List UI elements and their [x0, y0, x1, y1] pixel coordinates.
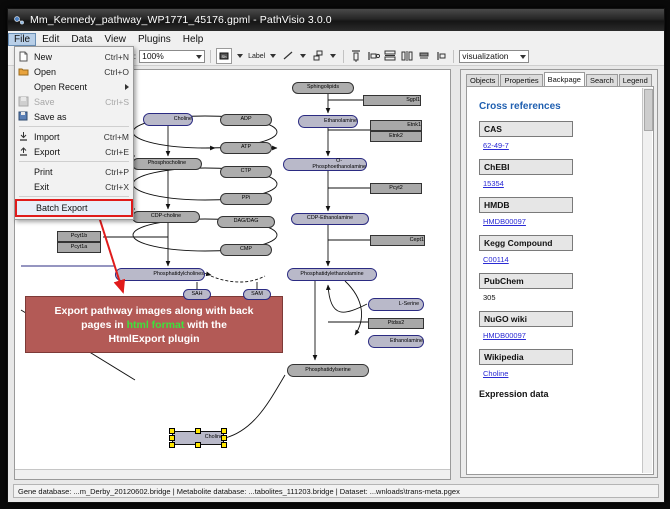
chevron-down-icon-2 — [520, 55, 526, 59]
pathway-node-sah-label: SAH — [191, 292, 202, 297]
svg-text:Sh: Sh — [222, 54, 227, 59]
selection-handle-2[interactable] — [221, 428, 227, 434]
cross-reference-link[interactable]: 62-49-7 — [479, 137, 653, 150]
pathway-node-ppi-label: PPi — [242, 196, 250, 201]
pathway-node-cdp-choline-label: CDP-choline — [151, 214, 181, 219]
callout-line-1: Export pathway images along with back — [55, 304, 254, 318]
file-menu-accel-print: Ctrl+P — [105, 167, 133, 177]
selection-handle-4[interactable] — [221, 435, 227, 441]
toolbar-divider — [210, 50, 211, 63]
import-icon — [17, 130, 30, 143]
cross-reference-link[interactable]: HMDB00097 — [479, 327, 653, 340]
cross-reference-database-label: PubChem — [479, 273, 573, 289]
stack-icon[interactable] — [417, 49, 431, 63]
interaction-tool-chevron-icon[interactable] — [330, 54, 336, 58]
pathway-node-ptdcho[interactable]: Phosphatidylcholines — [115, 268, 205, 281]
cross-reference-link[interactable]: 15354 — [479, 175, 653, 188]
status-bar-text: Gene database: ...m_Derby_20120602.bridg… — [18, 487, 460, 496]
file-menu-label-open: Open — [34, 67, 104, 77]
cross-reference-value: 305 — [479, 289, 653, 302]
line-tool-chevron-icon[interactable] — [300, 54, 306, 58]
file-menu-divider-3 — [19, 196, 129, 197]
callout-highlight: html format — [127, 319, 185, 331]
expression-data-heading: Expression data — [467, 378, 653, 399]
cross-reference-database-label: NuGO wiki — [479, 311, 573, 327]
cross-reference-database-label: HMDB — [479, 197, 573, 213]
file-menu-accel-export: Ctrl+E — [105, 147, 133, 157]
zoom-value: 100% — [142, 51, 164, 61]
visualization-combobox[interactable]: visualization — [459, 50, 529, 63]
title-bar: Mm_Kennedy_pathway_WP1771_45176.gpml - P… — [8, 9, 664, 31]
canvas-hscrollbar[interactable] — [15, 469, 450, 479]
pathway-node-adp-label: ADP — [240, 117, 251, 122]
callout-line-3: HtmlExport plugin — [55, 332, 254, 346]
pathway-node-ctp[interactable]: CTP — [220, 166, 272, 178]
pathway-node-etnk2[interactable]: Etnk2 — [370, 131, 422, 142]
callout-line-2a: pages in — [81, 319, 127, 331]
blank-icon — [17, 80, 30, 93]
file-menu-accel-exit: Ctrl+X — [105, 182, 133, 192]
submenu-arrow-icon — [125, 84, 129, 90]
file-menu-label-new: New — [34, 52, 105, 62]
cross-reference-item: HMDBHMDB00097 — [467, 188, 653, 226]
file-menu-label-open-recent: Open Recent — [34, 82, 133, 92]
pathway-node-cdp-eth-label: CDP-Ethanolamine — [307, 216, 353, 221]
file-menu-divider-1 — [19, 126, 129, 127]
selection-handle-5[interactable] — [169, 442, 175, 448]
pathway-node-ptdcho-label: Phosphatidylcholines — [153, 272, 204, 277]
align-top-icon[interactable] — [349, 49, 363, 63]
cross-reference-database-label: Wikipedia — [479, 349, 573, 365]
tab-legend[interactable]: Legend — [619, 74, 652, 86]
cross-reference-database-label: ChEBI — [479, 159, 573, 175]
distribute-vertical-icon[interactable] — [383, 49, 397, 63]
pathway-node-ethanolamine1-label: Ethanolamine — [324, 119, 357, 124]
pathway-node-atp[interactable]: ATP — [220, 142, 272, 154]
toolbar-divider-3 — [453, 50, 454, 63]
cross-reference-link[interactable]: C00114 — [479, 251, 653, 264]
shape-tool-chevron-icon[interactable] — [237, 54, 243, 58]
group-icon[interactable] — [434, 49, 448, 63]
pathway-node-cmp-label: CMP — [240, 247, 252, 252]
pathway-node-phosphocholine-label: Phosphocholine — [148, 161, 186, 166]
blank-icon-4 — [19, 202, 32, 215]
pathway-node-adp[interactable]: ADP — [220, 114, 272, 126]
backpage-content: Cross references CAS62-49-7ChEBI15354HMD… — [466, 86, 654, 475]
menu-help[interactable]: Help — [177, 33, 210, 46]
pathway-node-pcyt1b-label: Pcyt1b — [71, 234, 87, 239]
distribute-horizontal-icon[interactable] — [400, 49, 414, 63]
pathway-node-pcyt1b[interactable]: Pcyt1b — [57, 231, 101, 242]
pathway-node-etnk2-label: Etnk2 — [389, 134, 403, 139]
cross-references-heading: Cross references — [467, 87, 653, 112]
pathway-node-ptdeth[interactable]: Phosphatidylethanolamine — [287, 268, 377, 281]
pathway-node-sgpl1[interactable]: Sgpl1 — [363, 95, 421, 106]
label-tool-button[interactable]: Label — [248, 53, 265, 60]
cross-reference-link[interactable]: HMDB00097 — [479, 213, 653, 226]
screenshot-frame: Mm_Kennedy_pathway_WP1771_45176.gpml - P… — [0, 0, 670, 509]
file-menu-label-save: Save — [34, 97, 105, 107]
pathway-node-ptdser[interactable]: Phosphatidylserine — [287, 364, 369, 377]
pathway-node-l-serine[interactable]: L-Serine — [368, 298, 424, 311]
file-menu-item-save-as[interactable]: Save as — [15, 109, 133, 124]
pathway-node-pcyt2-label: Pcyt2 — [389, 186, 402, 191]
menu-view[interactable]: View — [98, 33, 132, 46]
zoom-combobox[interactable]: 100% — [139, 50, 205, 63]
file-menu-item-new[interactable]: New Ctrl+N — [15, 49, 133, 64]
pathway-node-cdp-eth[interactable]: CDP-Ethanolamine — [291, 213, 369, 225]
pathway-node-dagdag[interactable]: DAG/DAG — [217, 216, 275, 228]
pathway-node-cept1[interactable]: Cept1 — [370, 235, 425, 246]
pathway-node-etnk1[interactable]: Etnk1 — [370, 120, 422, 131]
cross-reference-item: NuGO wikiHMDB00097 — [467, 302, 653, 340]
callout-line-2b: with the — [184, 319, 227, 331]
open-folder-icon — [17, 65, 30, 78]
pathway-node-o-phosphoeth[interactable]: O-Phosphoethanolamine — [283, 158, 367, 171]
file-menu-item-print[interactable]: Print Ctrl+P — [15, 164, 133, 179]
pathvisio-window: Mm_Kennedy_pathway_WP1771_45176.gpml - P… — [7, 8, 665, 503]
new-file-icon — [17, 50, 30, 63]
save-as-icon — [17, 110, 30, 123]
cross-reference-item: CAS62-49-7 — [467, 112, 653, 150]
file-menu-accel-new: Ctrl+N — [105, 52, 133, 62]
file-menu-item-open[interactable]: Open Ctrl+O — [15, 64, 133, 79]
file-menu-item-exit[interactable]: Exit Ctrl+X — [15, 179, 133, 194]
pathway-node-sphingolipids-label: Sphingolipids — [307, 85, 339, 90]
cross-reference-database-label: Kegg Compound — [479, 235, 573, 251]
file-menu-label-print: Print — [34, 167, 105, 177]
file-menu-item-save: Save Ctrl+S — [15, 94, 133, 109]
file-menu-item-batch-export[interactable]: Batch Export — [15, 199, 133, 217]
pathway-node-cmp[interactable]: CMP — [220, 244, 272, 256]
selection-handle-7[interactable] — [221, 442, 227, 448]
pathway-node-dagdag-label: DAG/DAG — [234, 219, 259, 224]
pathway-node-sam-label: SAM — [251, 292, 263, 297]
pathway-node-ptdeth-label: Phosphatidylethanolamine — [300, 272, 363, 277]
pathway-node-sam[interactable]: SAM — [243, 289, 271, 300]
shape-tool-button[interactable]: Sh — [216, 48, 232, 64]
pathvisio-icon — [13, 14, 25, 26]
pathway-node-sgpl1-label: Sgpl1 — [406, 98, 420, 103]
pathway-node-choline-label: Choline — [174, 117, 192, 122]
pathway-node-cept1-label: Cept1 — [410, 238, 424, 243]
file-menu-label-batch-export: Batch Export — [36, 203, 131, 213]
chevron-down-icon — [196, 55, 202, 59]
file-menu-label-export: Export — [34, 147, 105, 157]
file-menu-item-export[interactable]: Export Ctrl+E — [15, 144, 133, 159]
cross-reference-database-label: CAS — [479, 121, 573, 137]
cross-reference-item: PubChem305 — [467, 264, 653, 302]
pathway-node-pcyt1a-label: Pcyt1a — [71, 245, 87, 250]
file-menu-label-save-as: Save as — [34, 112, 129, 122]
pathway-node-o-phosphoeth-label: O-Phosphoethanolamine — [312, 159, 366, 170]
blank-icon-3 — [17, 180, 30, 193]
pathway-node-etnk1-label: Etnk1 — [407, 123, 421, 128]
pathway-node-phosphocholine[interactable]: Phosphocholine — [132, 158, 202, 170]
file-menu-label-exit: Exit — [34, 182, 105, 192]
file-menu-label-import: Import — [34, 132, 104, 142]
html-export-callout: Export pathway images along with back pa… — [25, 296, 283, 353]
cross-reference-item: Kegg CompoundC00114 — [467, 226, 653, 264]
menu-plugins[interactable]: Plugins — [132, 33, 177, 46]
window-title: Mm_Kennedy_pathway_WP1771_45176.gpml - P… — [30, 14, 332, 26]
pathway-node-ethanolamine2-label: Ethanolamine — [390, 339, 423, 344]
pathway-node-sphingolipids[interactable]: Sphingolipids — [292, 82, 354, 94]
toolbar-divider-2 — [343, 50, 344, 63]
menu-file[interactable]: File — [8, 33, 36, 46]
pathway-node-ethanolamine1[interactable]: Ethanolamine — [298, 115, 358, 128]
visualization-value: visualization — [462, 51, 508, 61]
cross-reference-link[interactable]: Choline — [479, 365, 653, 378]
backpage-vscroll-thumb[interactable] — [644, 89, 653, 131]
file-menu-accel-open: Ctrl+O — [104, 67, 133, 77]
tab-properties[interactable]: Properties — [500, 74, 542, 86]
file-menu-item-open-recent[interactable]: Open Recent — [15, 79, 133, 94]
backpage-vscrollbar[interactable] — [642, 88, 652, 473]
pathway-node-ctp-label: CTP — [241, 169, 252, 174]
file-menu-divider-2 — [19, 161, 129, 162]
cross-references-list: CAS62-49-7ChEBI15354HMDBHMDB00097Kegg Co… — [467, 112, 653, 378]
pathway-node-ethanolamine2[interactable]: Ethanolamine — [368, 335, 424, 348]
selection-handle-6[interactable] — [195, 442, 201, 448]
pathway-node-choline[interactable]: Choline — [143, 113, 193, 126]
cross-reference-item: ChEBI15354 — [467, 150, 653, 188]
line-tool-button[interactable] — [281, 49, 295, 63]
pathway-node-l-serine-label: L-Serine — [399, 302, 419, 307]
export-icon — [17, 145, 30, 158]
align-left-icon[interactable] — [366, 49, 380, 63]
cross-reference-item: WikipediaCholine — [467, 340, 653, 378]
pathway-node-atp-label: ATP — [241, 145, 251, 150]
pathway-node-ptdss2[interactable]: Ptdss2 — [368, 318, 424, 329]
status-bar: Gene database: ...m_Derby_20120602.bridg… — [13, 484, 659, 498]
pathway-node-pcyt2[interactable]: Pcyt2 — [370, 183, 422, 194]
selection-handle-3[interactable] — [169, 435, 175, 441]
interaction-tool-button[interactable] — [311, 49, 325, 63]
menu-data[interactable]: Data — [65, 33, 98, 46]
tab-backpage[interactable]: Backpage — [544, 72, 585, 86]
side-panel: Objects Properties Backpage Search Legen… — [460, 69, 658, 478]
file-menu-popup[interactable]: New Ctrl+N Open Ctrl+O Open Recent Save — [14, 46, 134, 220]
file-menu-item-import[interactable]: Import Ctrl+M — [15, 129, 133, 144]
file-menu-accel-import: Ctrl+M — [104, 132, 133, 142]
label-tool-chevron-icon[interactable] — [270, 54, 276, 58]
pathway-node-ptdser-label: Phosphatidylserine — [305, 368, 351, 373]
pathway-node-sah[interactable]: SAH — [183, 289, 211, 300]
tab-objects[interactable]: Objects — [466, 74, 499, 86]
pathway-node-ppi[interactable]: PPi — [220, 193, 272, 205]
menu-edit[interactable]: Edit — [36, 33, 65, 46]
save-icon — [17, 95, 30, 108]
callout-line-2: pages in html format with the — [55, 318, 254, 332]
pathway-node-pcyt1a[interactable]: Pcyt1a — [57, 242, 101, 253]
tab-search[interactable]: Search — [586, 74, 618, 86]
pathway-node-cdp-choline[interactable]: CDP-choline — [132, 211, 200, 223]
pathway-node-ptdss2-label: Ptdss2 — [388, 321, 404, 326]
file-menu-accel-save: Ctrl+S — [105, 97, 133, 107]
side-panel-tabs[interactable]: Objects Properties Backpage Search Legen… — [462, 72, 652, 86]
blank-icon-2 — [17, 165, 30, 178]
selection-handle-1[interactable] — [195, 428, 201, 434]
selection-handle-0[interactable] — [169, 428, 175, 434]
